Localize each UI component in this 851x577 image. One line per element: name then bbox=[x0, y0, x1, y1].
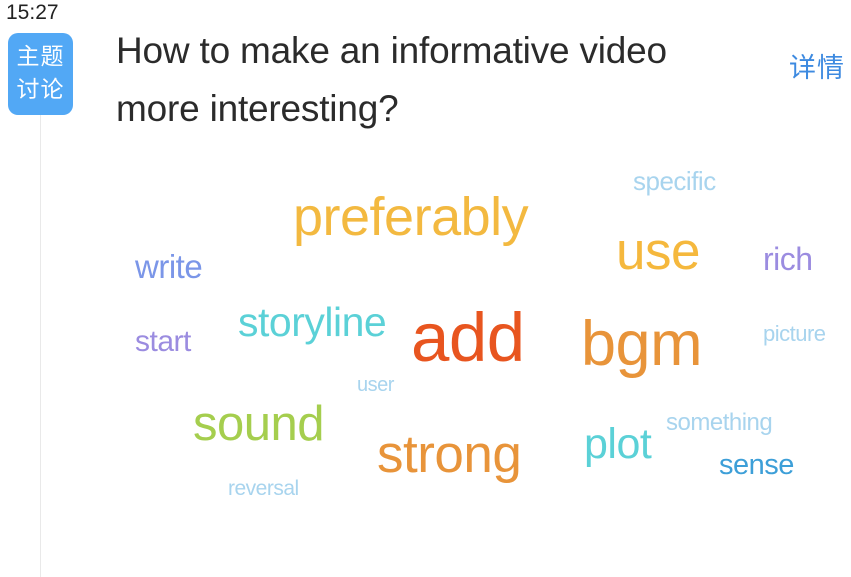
cloud-word-start[interactable]: start bbox=[135, 327, 191, 357]
cloud-word-bgm[interactable]: bgm bbox=[581, 313, 702, 376]
cloud-word-use[interactable]: use bbox=[616, 225, 700, 278]
cloud-word-rich[interactable]: rich bbox=[763, 243, 813, 275]
cloud-word-reversal[interactable]: reversal bbox=[228, 478, 299, 499]
topic-badge-line-1: 主题 bbox=[17, 41, 65, 74]
cloud-word-write[interactable]: write bbox=[135, 250, 202, 283]
cloud-word-something[interactable]: something bbox=[666, 411, 772, 435]
cloud-word-picture[interactable]: picture bbox=[763, 323, 826, 345]
word-cloud: preferablyusewritespecificrichstorylinea… bbox=[116, 140, 851, 540]
cloud-word-add[interactable]: add bbox=[411, 303, 525, 372]
cloud-word-preferably[interactable]: preferably bbox=[293, 190, 528, 244]
cloud-word-storyline[interactable]: storyline bbox=[238, 302, 386, 343]
cloud-word-sound[interactable]: sound bbox=[193, 400, 324, 449]
cloud-word-sense[interactable]: sense bbox=[719, 451, 794, 480]
topic-discussion-badge[interactable]: 主题 讨论 bbox=[8, 33, 73, 115]
cloud-word-user[interactable]: user bbox=[357, 375, 394, 395]
screen-root: 15:27 主题 讨论 How to make an informative v… bbox=[0, 0, 851, 577]
timeline-rail bbox=[40, 115, 41, 577]
details-link[interactable]: 详情 bbox=[789, 53, 845, 85]
cloud-word-specific[interactable]: specific bbox=[633, 168, 716, 194]
cloud-word-strong[interactable]: strong bbox=[377, 428, 521, 481]
cloud-word-plot[interactable]: plot bbox=[584, 423, 651, 466]
page-title: How to make an informative video more in… bbox=[116, 22, 696, 138]
topic-badge-line-2: 讨论 bbox=[17, 74, 65, 107]
status-bar-time: 15:27 bbox=[6, 1, 59, 25]
